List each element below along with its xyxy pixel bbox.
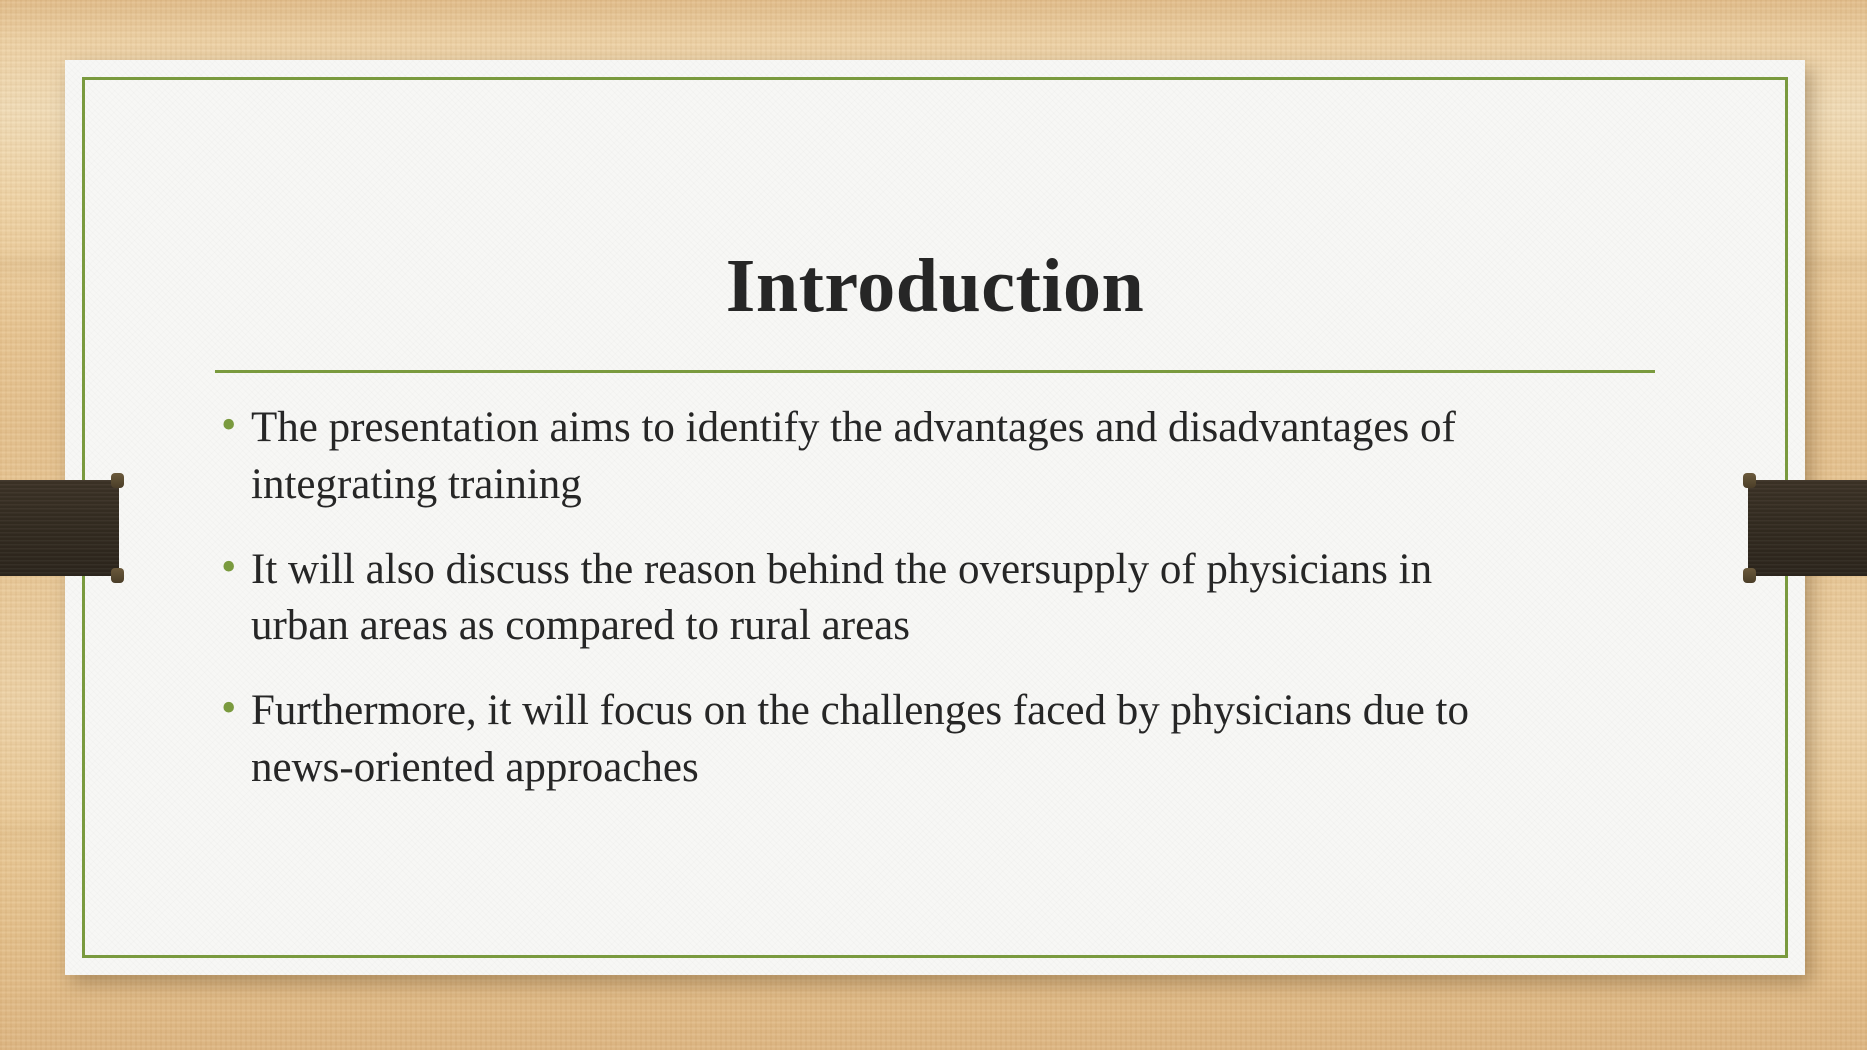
ribbon-stud-icon: [1743, 568, 1756, 583]
ribbon-stud-icon: [1743, 473, 1756, 488]
right-ribbon-tab: [1748, 480, 1867, 576]
page-title: Introduction: [65, 247, 1805, 327]
bullet-point-icon: •: [215, 683, 251, 733]
list-item: • It will also discuss the reason behind…: [215, 542, 1655, 656]
bullet-point-icon: •: [215, 542, 251, 592]
list-item: • The presentation aims to identify the …: [215, 400, 1655, 514]
title-divider-rule: [215, 370, 1655, 373]
presentation-slide-view: Introduction • The presentation aims to …: [0, 0, 1867, 1050]
list-item-text: Furthermore, it will focus on the challe…: [251, 683, 1655, 797]
list-item-text: It will also discuss the reason behind t…: [251, 542, 1655, 656]
slide-card: Introduction • The presentation aims to …: [65, 60, 1805, 975]
left-ribbon-tab: [0, 480, 119, 576]
ribbon-stud-icon: [111, 568, 124, 583]
ribbon-stud-icon: [111, 473, 124, 488]
bullet-point-icon: •: [215, 400, 251, 450]
list-item: • Furthermore, it will focus on the chal…: [215, 683, 1655, 797]
bullet-list: • The presentation aims to identify the …: [215, 400, 1655, 825]
list-item-text: The presentation aims to identify the ad…: [251, 400, 1655, 514]
